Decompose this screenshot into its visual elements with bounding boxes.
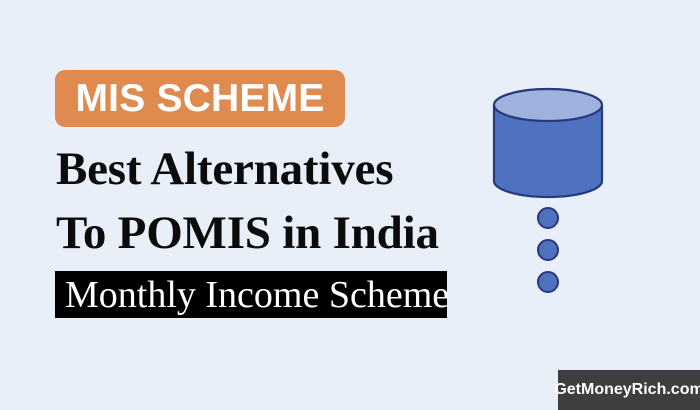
watermark-label: GetMoneyRich.com — [554, 382, 700, 398]
data-dot-3 — [538, 272, 558, 292]
cylinder-top — [494, 89, 602, 121]
watermark-badge: GetMoneyRich.com — [558, 370, 700, 410]
badge-label: MIS SCHEME — [75, 79, 324, 118]
mis-scheme-badge: MIS SCHEME — [55, 70, 345, 127]
data-dot-1 — [538, 208, 558, 228]
poster-canvas: MIS SCHEME Best Alternatives To POMIS in… — [0, 0, 700, 410]
headline-line-2: To POMIS in India — [56, 210, 439, 257]
data-dot-2 — [538, 240, 558, 260]
subtitle-label: Monthly Income Scheme — [65, 276, 449, 314]
database-cylinder-icon — [486, 78, 616, 308]
subtitle-bar: Monthly Income Scheme — [55, 271, 447, 318]
headline-line-1: Best Alternatives — [56, 146, 393, 193]
